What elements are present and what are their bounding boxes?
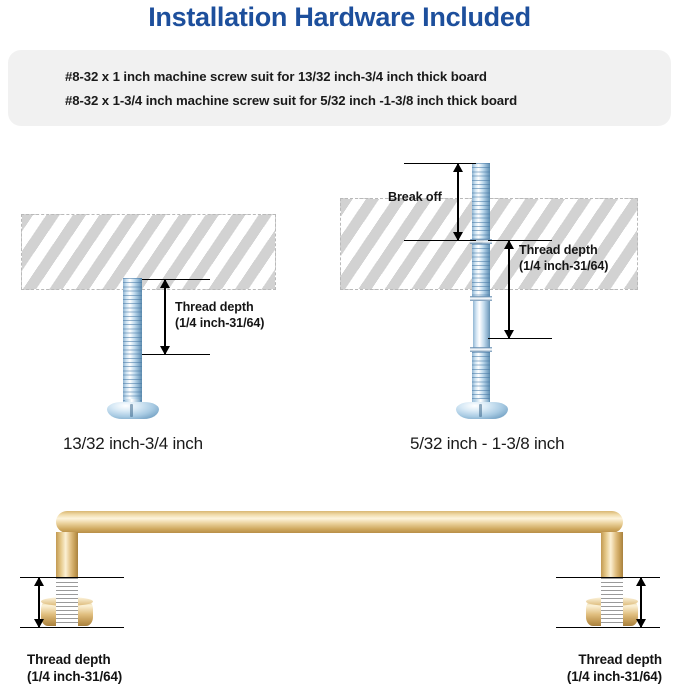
dim-line-thread-depth-left — [164, 279, 166, 355]
screw-head-right — [456, 402, 508, 419]
screw-breakoff-section-right — [472, 163, 490, 240]
handle-thread-depth-label-left-line1: Thread depth — [27, 651, 122, 668]
break-off-label-line1: Break off — [388, 190, 442, 206]
handle-thread-depth-label-right-line2: (1/4 inch-31/64) — [567, 668, 662, 685]
handle-thread-depth-label-left-line2: (1/4 inch-31/64) — [27, 668, 122, 685]
handle-dim-arrow-down-right — [636, 619, 646, 628]
dim-arrow-down-breakoff — [453, 232, 463, 241]
handle-post-thread-left-overlay — [56, 578, 78, 626]
thread-depth-label-right-line2: (1/4 inch-31/64) — [519, 259, 608, 275]
screw-shank-right — [473, 301, 490, 348]
handle-thread-depth-label-left: Thread depth (1/4 inch-31/64) — [27, 651, 122, 686]
page-title: Installation Hardware Included — [0, 2, 679, 33]
screw-head-slot-right — [479, 404, 482, 417]
dim-arrow-up-breakoff — [453, 163, 463, 172]
dim-extension-top-breakoff — [404, 163, 476, 164]
handle-post-thread-right-overlay — [601, 578, 623, 626]
screw-head-left — [107, 402, 159, 419]
handle-thread-depth-label-right-line1: Thread depth — [567, 651, 662, 668]
thread-depth-label-left-line1: Thread depth — [175, 300, 264, 316]
screw-thread-section-right — [472, 244, 490, 297]
dim-arrow-up-right — [504, 240, 514, 249]
dim-arrow-down-right — [504, 330, 514, 339]
dim-line-breakoff — [457, 163, 459, 241]
dim-extension-top-left — [142, 279, 210, 280]
handle-diagram: Thread depth (1/4 inch-31/64) Thread dep… — [0, 470, 679, 690]
dim-arrow-down-left — [160, 346, 170, 355]
thread-depth-label-left-line2: (1/4 inch-31/64) — [175, 316, 264, 332]
handle-dim-arrow-up-right — [636, 577, 646, 586]
spec-box: #8-32 x 1 inch machine screw suit for 13… — [8, 50, 671, 126]
handle-thread-depth-label-right: Thread depth (1/4 inch-31/64) — [567, 651, 662, 686]
dim-extension-bottom-right — [488, 338, 552, 339]
handle-dim-arrow-up-left — [34, 577, 44, 586]
handle-leg-right — [601, 532, 623, 580]
screw-head-slot-left — [130, 404, 133, 417]
thread-depth-label-right: Thread depth (1/4 inch-31/64) — [519, 243, 608, 274]
spec-line-screw-1-inch: #8-32 x 1 inch machine screw suit for 13… — [65, 69, 487, 84]
thread-depth-label-left: Thread depth (1/4 inch-31/64) — [175, 300, 264, 331]
break-off-label: Break off — [388, 190, 442, 206]
dim-line-thread-depth-right — [508, 240, 510, 339]
screw-shaft-left — [123, 278, 142, 406]
dim-arrow-up-left — [160, 279, 170, 288]
caption-short-screw: 13/32 inch-3/4 inch — [63, 434, 203, 454]
handle-dim-arrow-down-left — [34, 619, 44, 628]
handle-bar — [56, 511, 623, 533]
screw-thread-in-board-right — [472, 352, 490, 406]
handle-leg-left — [56, 532, 78, 580]
spec-line-screw-1-3-4-inch: #8-32 x 1-3/4 inch machine screw suit fo… — [65, 93, 517, 108]
thread-depth-label-right-line1: Thread depth — [519, 243, 608, 259]
dim-extension-top-right — [488, 240, 552, 241]
dim-extension-bottom-breakoff — [404, 240, 476, 241]
caption-long-screw: 5/32 inch - 1-3/8 inch — [410, 434, 564, 454]
dim-extension-bottom-left — [142, 354, 210, 355]
